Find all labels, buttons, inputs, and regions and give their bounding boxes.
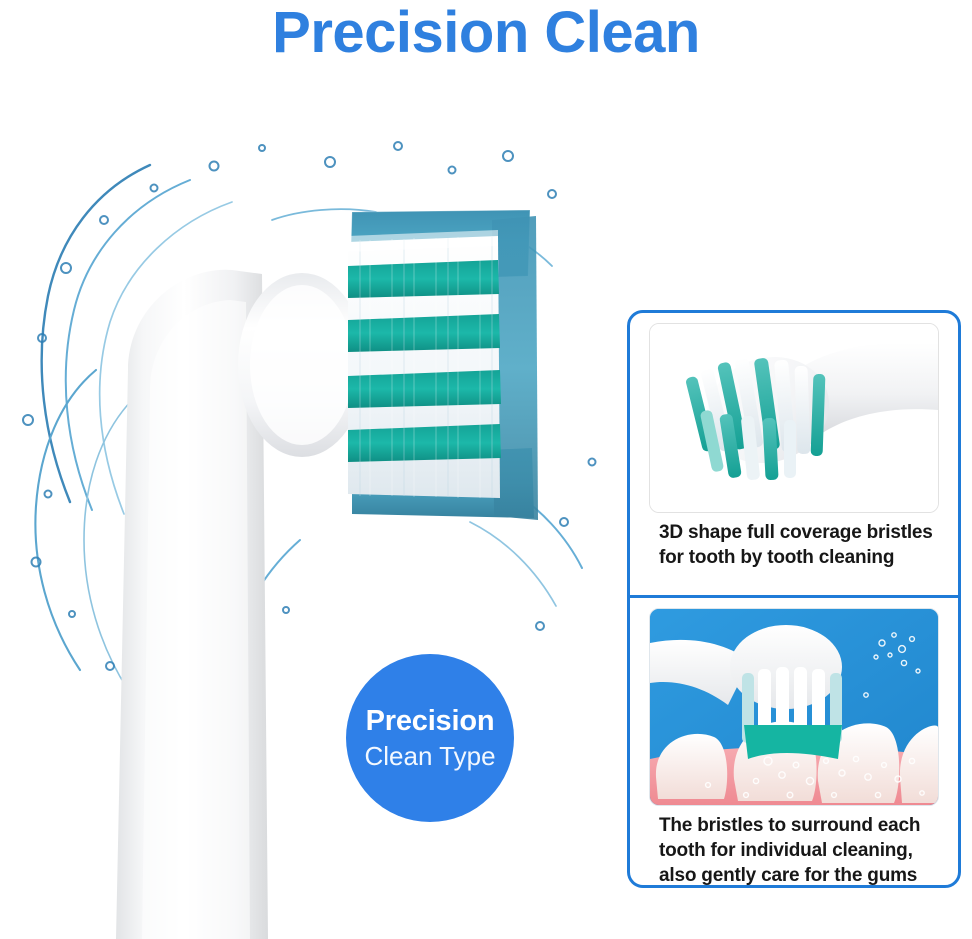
feature-card-2-caption: The bristles to surround each tooth for …: [659, 813, 941, 888]
brush-bristles: [348, 210, 538, 520]
product-feature-image: Precision Clean: [0, 0, 972, 939]
brushing-teeth-illustration: [649, 608, 939, 806]
hero-illustration: [0, 70, 620, 939]
feature-card-1-caption: 3D shape full coverage bristles for toot…: [659, 520, 941, 570]
feature-cards-panel: 3D shape full coverage bristles for toot…: [627, 310, 961, 888]
feature-card-1: 3D shape full coverage bristles for toot…: [630, 323, 958, 598]
feature-card-2: The bristles to surround each tooth for …: [630, 608, 958, 888]
badge-line-2: Clean Type: [364, 740, 495, 772]
brush-collar: [238, 273, 366, 457]
brush-head-photo: [649, 323, 939, 513]
precision-clean-type-badge: Precision Clean Type: [346, 654, 514, 822]
page-title: Precision Clean: [0, 2, 972, 64]
badge-line-1: Precision: [366, 704, 495, 738]
hero-product-image: [0, 70, 620, 939]
